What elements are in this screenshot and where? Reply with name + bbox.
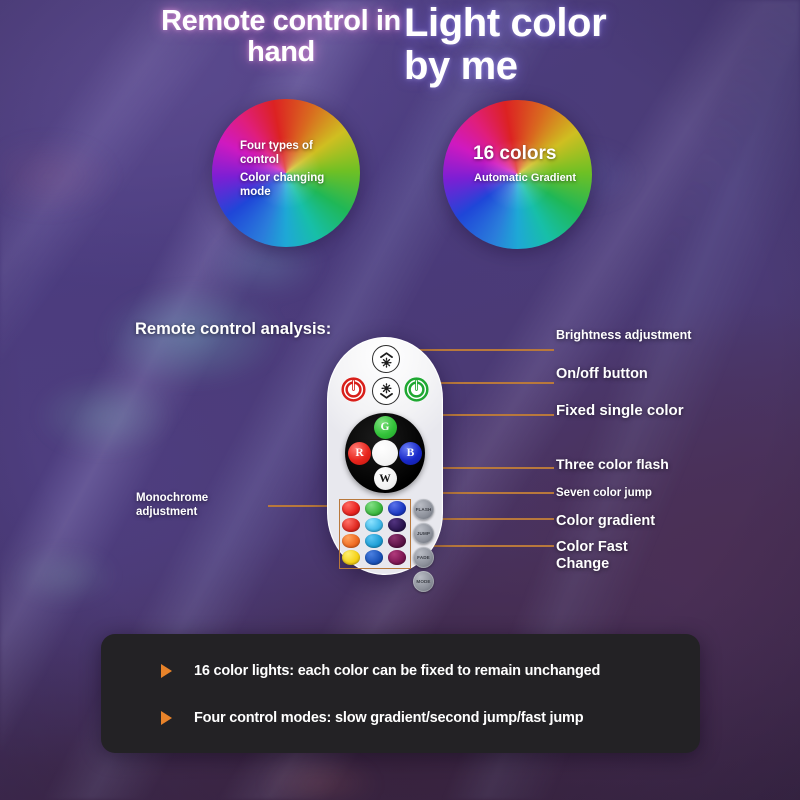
color-swatch[interactable] xyxy=(342,518,360,533)
mode-button-jump-label: JUMP xyxy=(417,531,430,536)
lead-line-jump xyxy=(430,492,554,494)
color-swatch[interactable] xyxy=(388,501,406,516)
pad-button-blue[interactable]: B xyxy=(399,442,422,465)
mode-button-mode-label: MODE xyxy=(416,579,430,584)
four-types-line1: Four types of control xyxy=(240,139,348,167)
mode-button-mode[interactable]: MODE xyxy=(413,571,434,592)
analysis-section-label: Remote control analysis: xyxy=(135,320,331,339)
bottom-feature-panel: 16 color lights: each color can be fixed… xyxy=(101,634,700,753)
rgbw-pad: G R B W xyxy=(345,413,425,493)
headline-left: Remote control in hand xyxy=(152,6,410,69)
callout-color-fast-change: Color Fast Change xyxy=(556,539,676,574)
color-swatch[interactable] xyxy=(388,534,406,549)
color-swatch[interactable] xyxy=(342,534,360,549)
color-swatch[interactable] xyxy=(365,550,383,565)
mode-button-jump[interactable]: JUMP xyxy=(413,523,434,544)
remote-control-body: G R B W FLASH JUMP xyxy=(327,337,443,575)
color-swatch[interactable] xyxy=(388,550,406,565)
mode-button-flash-label: FLASH xyxy=(416,507,432,512)
lead-line-flash xyxy=(430,467,554,469)
bullet-text: Four control modes: slow gradient/second… xyxy=(194,710,583,726)
brightness-up-icon xyxy=(377,350,396,369)
callout-seven-color-jump: Seven color jump xyxy=(556,487,731,501)
four-types-line2: Color changing mode xyxy=(240,171,348,199)
power-on-icon xyxy=(404,377,429,402)
color-swatch[interactable] xyxy=(365,518,383,533)
lead-line-fade xyxy=(430,518,554,520)
triangle-bullet-icon xyxy=(161,711,172,725)
callout-three-color-flash: Three color flash xyxy=(556,456,731,473)
brightness-down-icon xyxy=(377,382,396,401)
mode-button-fade[interactable]: FADE xyxy=(413,547,434,568)
lead-line-mode xyxy=(430,545,554,547)
brightness-down-button[interactable] xyxy=(372,377,400,405)
pad-center-button[interactable] xyxy=(372,440,398,466)
color-swatch[interactable] xyxy=(365,534,383,549)
bullet-text: 16 color lights: each color can be fixed… xyxy=(194,663,600,679)
feature-circle-sixteen-colors: 16 colors Automatic Gradient xyxy=(443,100,592,249)
power-off-button[interactable] xyxy=(341,377,366,402)
color-swatch[interactable] xyxy=(342,501,360,516)
callout-onoff-button: On/off button xyxy=(556,366,726,383)
power-on-button[interactable] xyxy=(404,377,429,402)
callout-color-gradient: Color gradient xyxy=(556,513,731,530)
bullet-item: Four control modes: slow gradient/second… xyxy=(161,710,583,726)
power-off-icon xyxy=(341,377,366,402)
bullet-item: 16 color lights: each color can be fixed… xyxy=(161,663,600,679)
lead-line-fixed-color xyxy=(427,414,554,416)
color-swatch[interactable] xyxy=(342,550,360,565)
pad-button-white[interactable]: W xyxy=(374,467,397,490)
pad-button-green[interactable]: G xyxy=(374,416,397,439)
pad-button-red[interactable]: R xyxy=(348,442,371,465)
color-swatch[interactable] xyxy=(365,501,383,516)
infographic-page: Remote control in hand Light color by me… xyxy=(0,0,800,800)
color-swatch[interactable] xyxy=(388,518,406,533)
sixteen-colors-subtitle: Automatic Gradient xyxy=(474,171,586,186)
mode-button-fade-label: FADE xyxy=(417,555,430,560)
mode-button-flash[interactable]: FLASH xyxy=(413,499,434,520)
brightness-up-button[interactable] xyxy=(372,345,400,373)
triangle-bullet-icon xyxy=(161,664,172,678)
callout-fixed-single-color: Fixed single color xyxy=(556,402,706,420)
feature-circle-four-types: Four types of control Color changing mod… xyxy=(212,99,360,247)
color-swatch-grid xyxy=(341,501,407,565)
headline-right: Light color by me xyxy=(404,2,654,88)
sixteen-colors-title: 16 colors xyxy=(473,143,588,165)
callout-brightness-adjustment: Brightness adjustment xyxy=(556,328,706,343)
callout-monochrome-adjustment: Monochrome adjustment xyxy=(136,492,266,520)
